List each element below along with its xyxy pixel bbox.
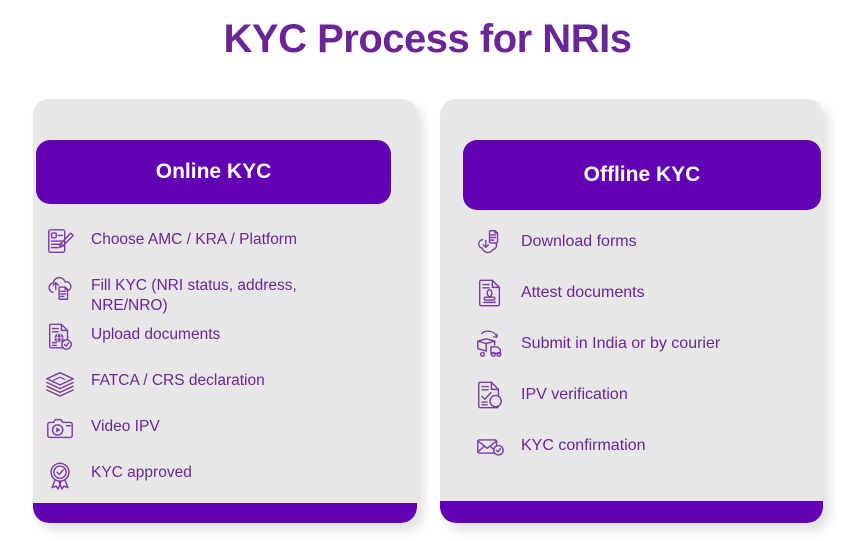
list-item-label: Upload documents bbox=[91, 319, 220, 345]
list-item-label: Download forms bbox=[521, 224, 637, 252]
award-badge-check-icon bbox=[43, 458, 77, 492]
card-header-online-kyc[interactable]: Online KYC bbox=[36, 140, 391, 204]
package-truck-icon bbox=[473, 327, 507, 361]
list-item-label: KYC approved bbox=[91, 457, 192, 483]
envelope-check-icon bbox=[473, 429, 507, 463]
list-item-label: Attest documents bbox=[521, 275, 645, 303]
list-item[interactable]: Attest documents bbox=[473, 275, 823, 326]
list-item[interactable]: KYC confirmation bbox=[473, 428, 823, 479]
stacked-layers-icon bbox=[43, 366, 77, 400]
list-item-label: IPV verification bbox=[521, 377, 628, 405]
item-list-online-kyc: Choose AMC / KRA / Platform bbox=[33, 204, 417, 503]
card-header-offline-kyc[interactable]: Offline KYC bbox=[463, 140, 821, 210]
document-check-magnifier-icon bbox=[473, 378, 507, 412]
list-item-label: Submit in India or by courier bbox=[521, 326, 720, 354]
card-online-kyc: Online KYC bbox=[33, 99, 417, 523]
list-item[interactable]: Choose AMC / KRA / Platform bbox=[43, 224, 417, 268]
list-item-label: Choose AMC / KRA / Platform bbox=[91, 224, 297, 250]
list-item[interactable]: Download forms bbox=[473, 224, 823, 275]
cloud-download-document-icon bbox=[473, 225, 507, 259]
cloud-upload-document-icon bbox=[43, 271, 77, 305]
list-item-label: Video IPV bbox=[91, 411, 160, 437]
list-item[interactable]: Fill KYC (NRI status, address, NRE/NRO) bbox=[43, 270, 417, 317]
list-item[interactable]: IPV verification bbox=[473, 377, 823, 428]
card-footer-online-kyc bbox=[33, 503, 417, 523]
document-globe-check-icon bbox=[43, 320, 77, 354]
list-item-label: Fill KYC (NRI status, address, NRE/NRO) bbox=[91, 270, 361, 317]
cards-container: Online KYC bbox=[33, 99, 823, 523]
list-item-label: KYC confirmation bbox=[521, 428, 646, 456]
card-offline-kyc: Offline KYC bbox=[440, 99, 823, 523]
list-item[interactable]: FATCA / CRS declaration bbox=[43, 365, 417, 409]
camera-play-icon bbox=[43, 412, 77, 446]
list-item[interactable]: Upload documents bbox=[43, 319, 417, 363]
list-item[interactable]: KYC approved bbox=[43, 457, 417, 501]
list-item-label: FATCA / CRS declaration bbox=[91, 365, 265, 391]
document-stamp-icon bbox=[473, 276, 507, 310]
page-title: KYC Process for NRIs bbox=[0, 17, 855, 62]
document-pen-icon bbox=[43, 225, 77, 259]
list-item[interactable]: Video IPV bbox=[43, 411, 417, 455]
list-item[interactable]: Submit in India or by courier bbox=[473, 326, 823, 377]
infographic-page: KYC Process for NRIs Online KYC bbox=[0, 0, 855, 541]
card-footer-offline-kyc bbox=[440, 501, 823, 523]
item-list-offline-kyc: Download forms Att bbox=[440, 210, 823, 501]
